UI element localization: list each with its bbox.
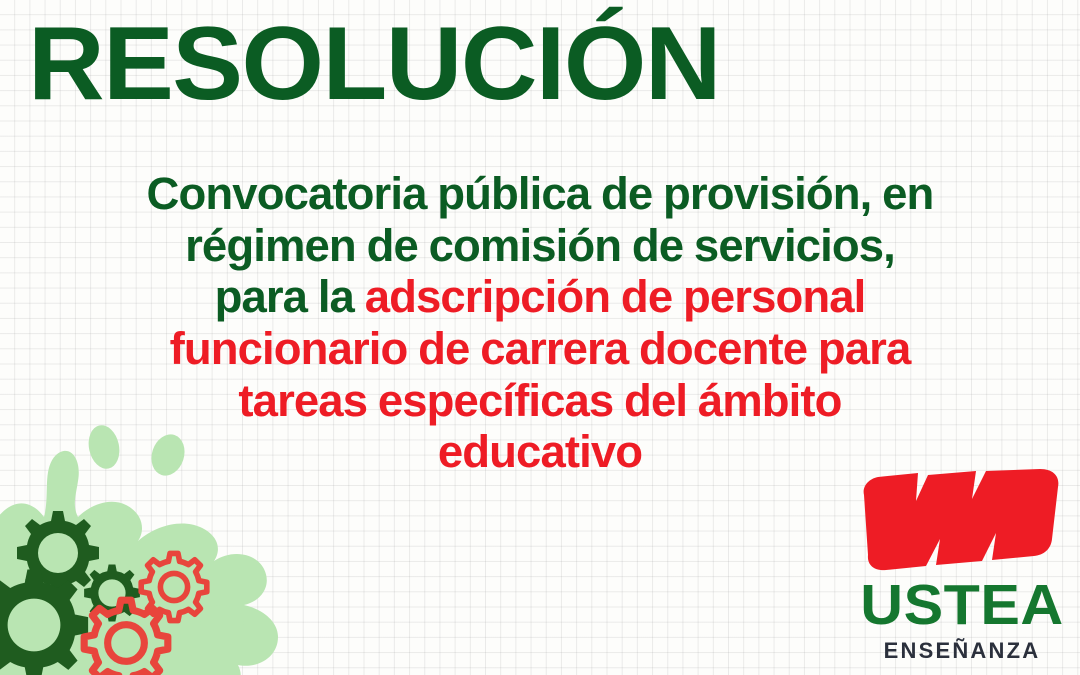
ustea-lightning-flag-icon (858, 467, 1066, 579)
body-line-2-text: régimen de comisión de servicios, (185, 220, 895, 271)
body-line-2: régimen de comisión de servicios, (18, 220, 1062, 272)
body-line-3: para la adscripción de personal (18, 271, 1062, 323)
body-line-1-text: Convocatoria pública de provisión, en (147, 168, 934, 219)
page-title: RESOLUCIÓN (28, 10, 720, 119)
ustea-wordmark: USTEA (854, 577, 1070, 634)
body-text-block: Convocatoria pública de provisión, en ré… (18, 168, 1062, 478)
body-line-4: funcionario de carrera docente para (18, 323, 1062, 375)
body-line-1: Convocatoria pública de provisión, en (18, 168, 1062, 220)
body-line-6-text: educativo (438, 426, 642, 477)
body-line-3-red-text: adscripción de personal (365, 271, 866, 322)
body-line-5-text: tareas específicas del ámbito (238, 375, 841, 426)
body-line-3-green-text: para la (215, 271, 365, 322)
ustea-sublabel: ENSEÑANZA (858, 640, 1066, 662)
body-line-5: tareas específicas del ámbito (18, 375, 1062, 427)
body-line-4-text: funcionario de carrera docente para (170, 323, 911, 374)
poster-canvas: RESOLUCIÓN Convocatoria pública de provi… (0, 0, 1080, 675)
ustea-logo: USTEA ENSEÑANZA (858, 467, 1066, 667)
